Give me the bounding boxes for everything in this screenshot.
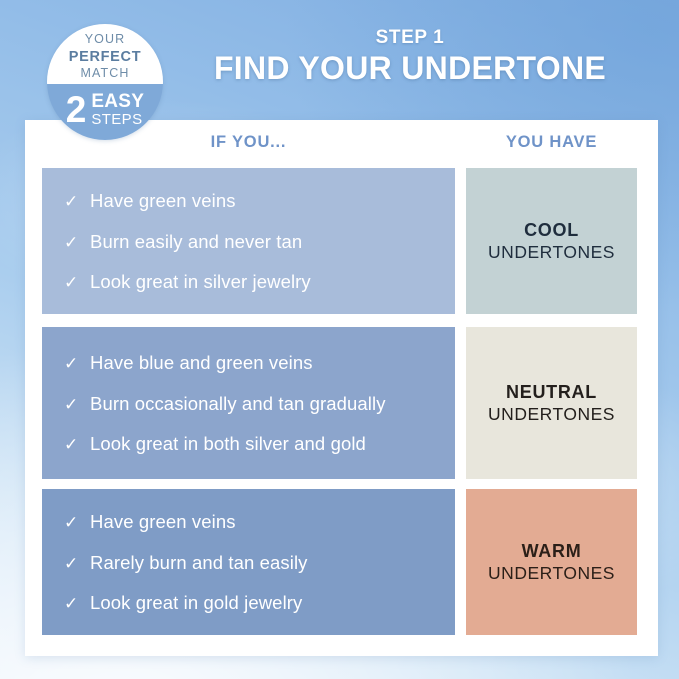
criteria-item: ✓Have green veins [64,511,439,534]
badge-bottom-half: 2 EASY STEPS [47,84,163,140]
criteria-item: ✓Have green veins [64,190,439,213]
swatch-name: WARM [522,541,582,562]
criteria-item: ✓Look great in silver jewelry [64,271,439,294]
criteria-item: ✓Burn occasionally and tan gradually [64,393,439,416]
undertone-row: ✓Have green veins✓Rarely burn and tan ea… [42,489,637,635]
criteria-text: Burn occasionally and tan gradually [90,393,386,416]
check-icon: ✓ [64,595,90,612]
criteria-text: Rarely burn and tan easily [90,552,308,575]
badge-line-perfect: PERFECT [69,48,142,66]
undertone-swatch: WARMUNDERTONES [466,489,637,635]
badge-step-number: 2 [66,93,87,127]
badge-line-your: YOUR [85,32,126,48]
criteria-text: Look great in silver jewelry [90,271,311,294]
criteria-text: Have green veins [90,190,236,213]
swatch-subtitle: UNDERTONES [488,242,615,263]
criteria-text: Look great in gold jewelry [90,592,302,615]
page-title: STEP 1 FIND YOUR UNDERTONE [200,28,620,87]
column-header-you-have: YOU HAVE [466,133,637,152]
criteria-text: Have blue and green veins [90,352,313,375]
criteria-item: ✓Burn easily and never tan [64,231,439,254]
badge-label-easy: EASY [91,92,144,111]
undertone-row: ✓Have blue and green veins✓Burn occasion… [42,327,637,479]
badge-steps-stack: EASY STEPS [91,92,144,127]
check-icon: ✓ [64,193,90,210]
check-icon: ✓ [64,514,90,531]
check-icon: ✓ [64,396,90,413]
criteria-panel: ✓Have green veins✓Rarely burn and tan ea… [42,489,455,635]
step-label: STEP 1 [200,28,620,49]
undertone-swatch: NEUTRALUNDERTONES [466,327,637,479]
badge-label-steps: STEPS [91,112,144,127]
criteria-item: ✓Rarely burn and tan easily [64,552,439,575]
check-icon: ✓ [64,234,90,251]
check-icon: ✓ [64,274,90,291]
main-title: FIND YOUR UNDERTONE [200,51,620,87]
check-icon: ✓ [64,436,90,453]
criteria-text: Burn easily and never tan [90,231,302,254]
criteria-item: ✓Have blue and green veins [64,352,439,375]
criteria-panel: ✓Have green veins✓Burn easily and never … [42,168,455,314]
swatch-name: NEUTRAL [506,382,597,403]
swatch-subtitle: UNDERTONES [488,404,615,425]
swatch-name: COOL [524,220,579,241]
criteria-item: ✓Look great in gold jewelry [64,592,439,615]
check-icon: ✓ [64,555,90,572]
criteria-text: Look great in both silver and gold [90,433,366,456]
badge-top-half: YOUR PERFECT MATCH [47,24,163,84]
undertone-swatch: COOLUNDERTONES [466,168,637,314]
badge-line-match: MATCH [80,66,129,82]
undertone-row: ✓Have green veins✓Burn easily and never … [42,168,637,314]
check-icon: ✓ [64,355,90,372]
criteria-text: Have green veins [90,511,236,534]
perfect-match-badge: YOUR PERFECT MATCH 2 EASY STEPS [47,24,163,140]
criteria-item: ✓Look great in both silver and gold [64,433,439,456]
criteria-panel: ✓Have blue and green veins✓Burn occasion… [42,327,455,479]
swatch-subtitle: UNDERTONES [488,563,615,584]
